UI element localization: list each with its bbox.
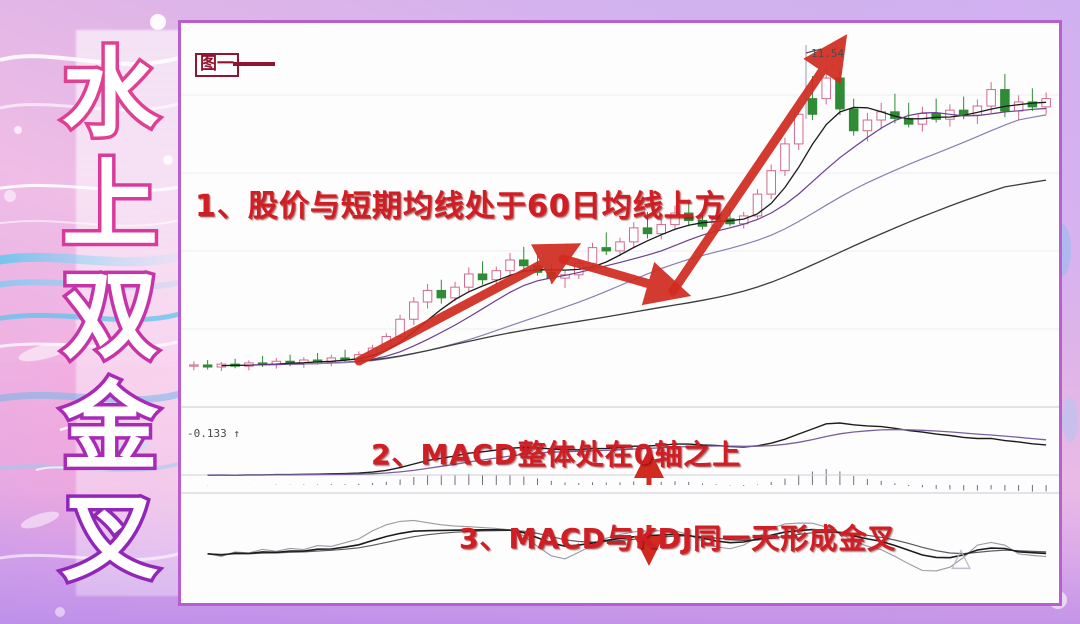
candle-body (643, 228, 652, 234)
candle-body (794, 114, 803, 144)
candle-body (190, 365, 199, 366)
candle-body (1014, 102, 1023, 111)
title-char-2: 上 (62, 157, 158, 253)
price-value-tag: 11.54 (811, 47, 844, 60)
triangle-watermark-icon: △ (951, 545, 971, 571)
title-char-5: 叉 (62, 490, 158, 586)
candle-body (781, 144, 790, 171)
candle-body (588, 248, 597, 264)
candle-body (849, 109, 858, 131)
candle-body (616, 242, 625, 251)
candle-body (932, 113, 941, 119)
candle-body (822, 78, 831, 99)
title-char-1: 水 (62, 46, 158, 142)
candle-body (629, 228, 638, 242)
candle-body (465, 274, 474, 287)
annotation-3: 3、MACD与KDJ同一天形成金叉 (459, 517, 896, 557)
candle-body (203, 365, 212, 367)
candle-body (836, 78, 845, 109)
candle-body (423, 290, 432, 302)
title-char-3: 双 (62, 268, 158, 364)
candle-body (478, 274, 487, 280)
figure-label-dash (233, 62, 275, 66)
candle-body (1001, 90, 1010, 111)
annotation-2: 2、MACD整体处在0轴之上 (371, 433, 741, 473)
macd-value-tag: -0.133 ↑ (187, 427, 240, 440)
candle-body (602, 248, 611, 251)
chart-canvas[interactable]: 图一 11.54 -0.133 ↑ 1、股价与短期均线处于60日均线上方 2、M… (181, 23, 1059, 603)
candle-body (451, 287, 460, 298)
candle-body (973, 106, 982, 115)
candle-body (753, 194, 762, 216)
candle-body (437, 290, 446, 297)
poster-title: 水 上 双 金 叉 (36, 46, 184, 586)
title-char-4: 金 (62, 379, 158, 475)
candle-body (808, 99, 817, 115)
stock-chart-panel[interactable]: 图一 11.54 -0.133 ↑ 1、股价与短期均线处于60日均线上方 2、M… (178, 20, 1062, 606)
candle-body (520, 260, 529, 266)
candle-body (410, 302, 419, 319)
candle-body (492, 271, 501, 280)
candle-body (506, 260, 515, 271)
candle-body (863, 120, 872, 131)
candle-body (657, 225, 666, 234)
chart-graphics (181, 23, 1059, 603)
trend-arrow-up-1 (359, 255, 559, 361)
candle-body (767, 171, 776, 194)
candle-body (987, 90, 996, 106)
annotation-1: 1、股价与短期均线处于60日均线上方 (195, 181, 726, 225)
